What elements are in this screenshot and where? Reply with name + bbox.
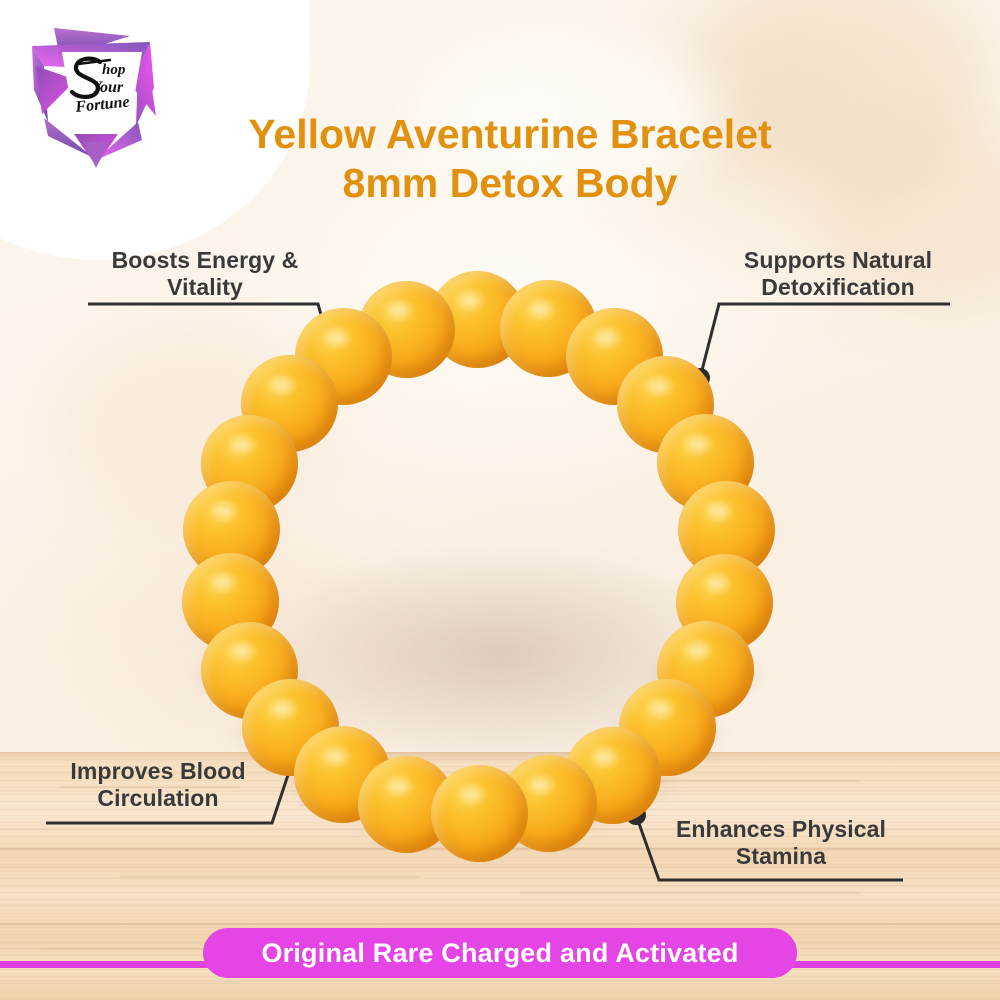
callout-enhances-stamina: Enhances Physical Stamina <box>665 816 897 869</box>
callout-line-2: Detoxification <box>727 274 949 301</box>
callout-line-2: Vitality <box>100 274 310 301</box>
callout-line-1: Supports Natural <box>727 247 949 274</box>
logo-word-hop: hop <box>102 62 126 78</box>
callout-supports-detox: Supports Natural Detoxification <box>727 247 949 300</box>
callout-line-1: Enhances Physical <box>665 816 897 843</box>
page-title: Yellow Aventurine Bracelet 8mm Detox Bod… <box>150 110 870 208</box>
banner-pill[interactable]: Original Rare Charged and Activated <box>203 928 797 978</box>
callout-improves-circulation: Improves Blood Circulation <box>52 758 264 811</box>
callout-boosts-energy: Boosts Energy & Vitality <box>100 247 310 300</box>
shop-your-fortune-logo[interactable]: hop Your Fortune <box>18 18 186 178</box>
callout-line-2: Circulation <box>52 785 264 812</box>
callout-line-1: Improves Blood <box>52 758 264 785</box>
callout-line-1: Boosts Energy & <box>100 247 310 274</box>
title-line-2: 8mm Detox Body <box>150 159 870 208</box>
infographic-canvas: Boosts Energy & Vitality Supports Natura… <box>0 0 1000 1000</box>
banner-text: Original Rare Charged and Activated <box>261 938 738 969</box>
callout-line-2: Stamina <box>665 843 897 870</box>
logo-triangles-icon: hop Your Fortune <box>18 18 186 178</box>
title-line-1: Yellow Aventurine Bracelet <box>150 110 870 159</box>
bracelet-bead <box>431 765 528 862</box>
